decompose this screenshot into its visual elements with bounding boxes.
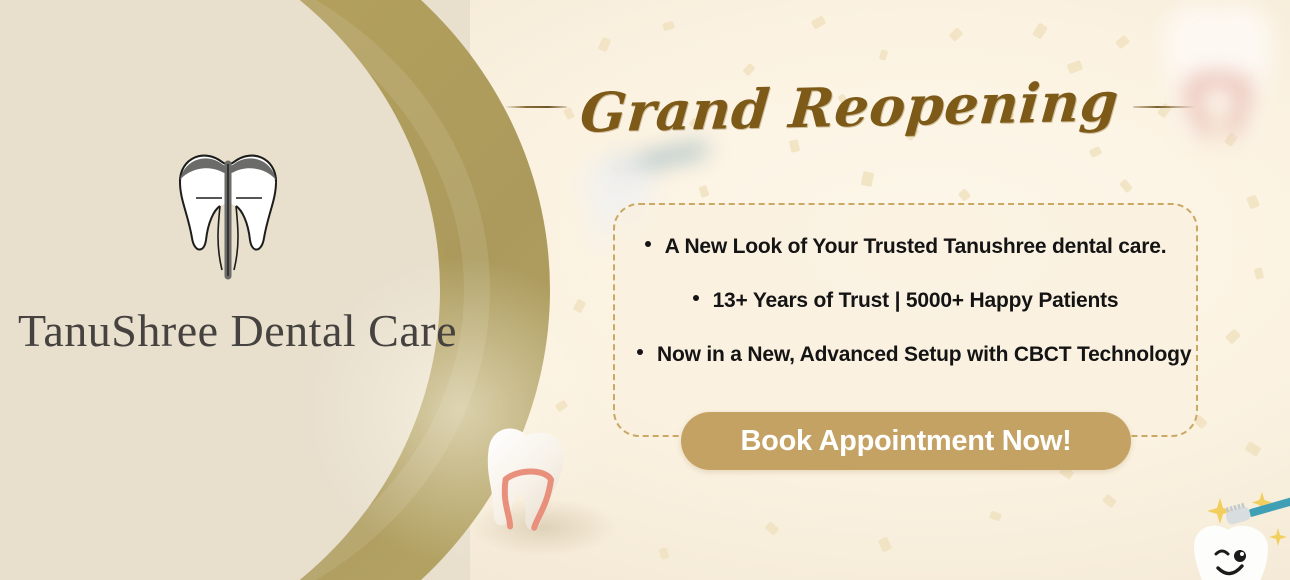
list-item: 13+ Years of Trust | 5000+ Happy Patient…: [637, 289, 1174, 313]
molar-tooth-icon: [475, 422, 575, 534]
page-title: Grand Reopening: [578, 69, 1121, 144]
bullet-dot-icon: [645, 241, 651, 247]
list-item: Now in a New, Advanced Setup with CBCT T…: [637, 343, 1174, 367]
bullet-dot-icon: [693, 295, 699, 301]
logo-mark: DESTINATION FOR PERFECT SMILE: [118, 140, 338, 290]
list-item: A New Look of Your Trusted Tanushree den…: [637, 235, 1174, 259]
highlights-card: A New Look of Your Trusted Tanushree den…: [613, 203, 1198, 437]
decorative-tooth-mascot: [1188, 520, 1274, 580]
headline-rule-left: [505, 106, 567, 108]
brand-name: TanuShree Dental Care: [18, 304, 438, 357]
highlights-list: A New Look of Your Trusted Tanushree den…: [615, 205, 1196, 367]
logo-block: DESTINATION FOR PERFECT SMILE TanuShree …: [18, 140, 438, 357]
grand-reopening-banner: DESTINATION FOR PERFECT SMILE TanuShree …: [0, 0, 1290, 580]
headline-rule-right: [1133, 106, 1195, 108]
list-item-label: A New Look of Your Trusted Tanushree den…: [665, 235, 1167, 258]
bullet-dot-icon: [637, 349, 643, 355]
logo-tagline-arc: DESTINATION FOR PERFECT SMILE: [113, 146, 343, 306]
decorative-molar-tooth: [475, 422, 575, 534]
list-item-label: Now in a New, Advanced Setup with CBCT T…: [657, 343, 1191, 366]
headline-row: Grand Reopening: [505, 62, 1195, 152]
smiling-tooth-mascot-icon: [1188, 520, 1274, 580]
list-item-label: 13+ Years of Trust | 5000+ Happy Patient…: [713, 289, 1119, 312]
logo-tagline-text: DESTINATION FOR PERFECT SMILE: [113, 146, 343, 150]
book-appointment-button[interactable]: Book Appointment Now!: [681, 412, 1131, 470]
